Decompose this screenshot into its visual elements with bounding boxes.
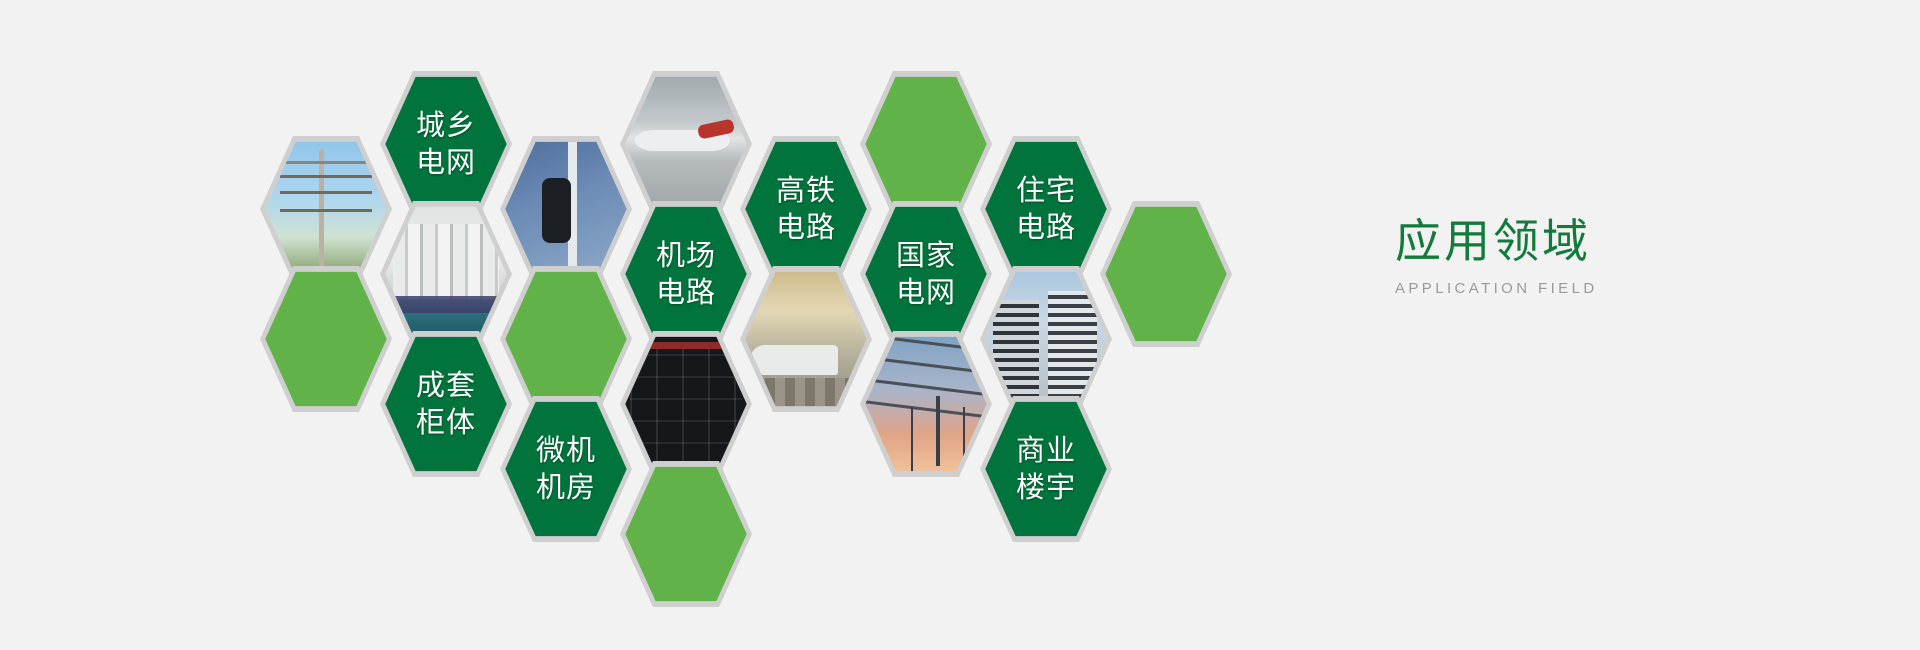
hex-inner-hsr-circuit: 高铁 电路 — [745, 139, 866, 279]
hex-cell-power-pole-photo[interactable] — [260, 133, 392, 285]
page-subtitle: APPLICATION FIELD — [1395, 280, 1598, 297]
hex-inner-lineman-photo — [505, 139, 626, 279]
hex-cell-blank-center[interactable] — [500, 263, 632, 415]
hex-cell-hsr-circuit[interactable]: 高铁 电路 — [740, 133, 872, 285]
hex-inner-airport-photo — [625, 74, 746, 214]
hex-inner-blank-far-right — [1105, 204, 1226, 344]
hex-cell-hsr-train-photo[interactable] — [740, 263, 872, 415]
hex-cell-transmission-photo[interactable] — [860, 328, 992, 480]
hex-inner-airport-circuit: 机场 电路 — [625, 204, 746, 344]
hex-inner-highrise-photo — [985, 269, 1106, 409]
hex-inner-switchboard-photo — [625, 334, 746, 474]
hex-cell-blank-bottom-mid[interactable] — [620, 458, 752, 610]
hex-label-commercial-building: 商业 楼宇 — [1016, 432, 1076, 506]
hex-cell-commercial-building[interactable]: 商业 楼宇 — [980, 393, 1112, 545]
hex-label-airport-circuit: 机场 电路 — [656, 237, 716, 311]
photo-lineman-on-pole — [505, 139, 626, 279]
photo-high-speed-train — [745, 269, 866, 409]
hex-inner-blank-top-right — [865, 74, 986, 214]
hex-cell-state-grid[interactable]: 国家 电网 — [860, 198, 992, 350]
hex-label-hsr-circuit: 高铁 电路 — [776, 172, 836, 246]
hex-cell-blank-left-mid[interactable] — [260, 263, 392, 415]
hex-cell-switchgear-photo[interactable] — [380, 198, 512, 350]
hex-cell-highrise-photo[interactable] — [980, 263, 1112, 415]
hex-cell-airport-circuit[interactable]: 机场 电路 — [620, 198, 752, 350]
hex-inner-complete-cabinet: 成套 柜体 — [385, 334, 506, 474]
hex-cell-micro-computer-room[interactable]: 微机 机房 — [500, 393, 632, 545]
hex-label-residential-circuit: 住宅 电路 — [1016, 172, 1076, 246]
hexagon-honeycomb: 城乡 电网成套 柜体机场 电路微机 机房高铁 电路国家 电网住宅 电路商业 楼宇 — [250, 40, 1080, 540]
photo-transmission-lines-sunset — [865, 334, 986, 474]
hex-cell-complete-cabinet[interactable]: 成套 柜体 — [380, 328, 512, 480]
hex-cell-blank-far-right[interactable] — [1100, 198, 1232, 350]
application-field-banner: 城乡 电网成套 柜体机场 电路微机 机房高铁 电路国家 电网住宅 电路商业 楼宇… — [0, 0, 1920, 650]
page-title: 应用领域 — [1395, 218, 1598, 264]
hex-label-state-grid: 国家 电网 — [896, 237, 956, 311]
hex-inner-state-grid: 国家 电网 — [865, 204, 986, 344]
hex-cell-residential-circuit[interactable]: 住宅 电路 — [980, 133, 1112, 285]
hex-inner-residential-circuit: 住宅 电路 — [985, 139, 1106, 279]
photo-airport-apron — [625, 74, 746, 214]
hex-label-complete-cabinet: 成套 柜体 — [416, 367, 476, 441]
hex-cell-airport-photo[interactable] — [620, 68, 752, 220]
hex-inner-hsr-train-photo — [745, 269, 866, 409]
hex-inner-urban-rural-grid: 城乡 电网 — [385, 74, 506, 214]
hex-cell-lineman-photo[interactable] — [500, 133, 632, 285]
title-block: 应用领域 APPLICATION FIELD — [1395, 218, 1598, 297]
hex-inner-transmission-photo — [865, 334, 986, 474]
photo-switch-cabinets — [385, 204, 506, 344]
hex-inner-commercial-building: 商业 楼宇 — [985, 399, 1106, 539]
hex-inner-micro-computer-room: 微机 机房 — [505, 399, 626, 539]
photo-utility-pole — [265, 139, 386, 279]
hex-inner-switchgear-photo — [385, 204, 506, 344]
hex-inner-blank-bottom-mid — [625, 464, 746, 604]
hex-cell-urban-rural-grid[interactable]: 城乡 电网 — [380, 68, 512, 220]
hex-label-urban-rural-grid: 城乡 电网 — [416, 107, 476, 181]
photo-residential-towers — [985, 269, 1106, 409]
hex-inner-blank-left-mid — [265, 269, 386, 409]
hex-inner-power-pole-photo — [265, 139, 386, 279]
hex-cell-blank-top-right[interactable] — [860, 68, 992, 220]
hex-cell-switchboard-photo[interactable] — [620, 328, 752, 480]
hex-inner-blank-center — [505, 269, 626, 409]
photo-switchboard-panel — [625, 334, 746, 474]
hex-label-micro-computer-room: 微机 机房 — [536, 432, 596, 506]
